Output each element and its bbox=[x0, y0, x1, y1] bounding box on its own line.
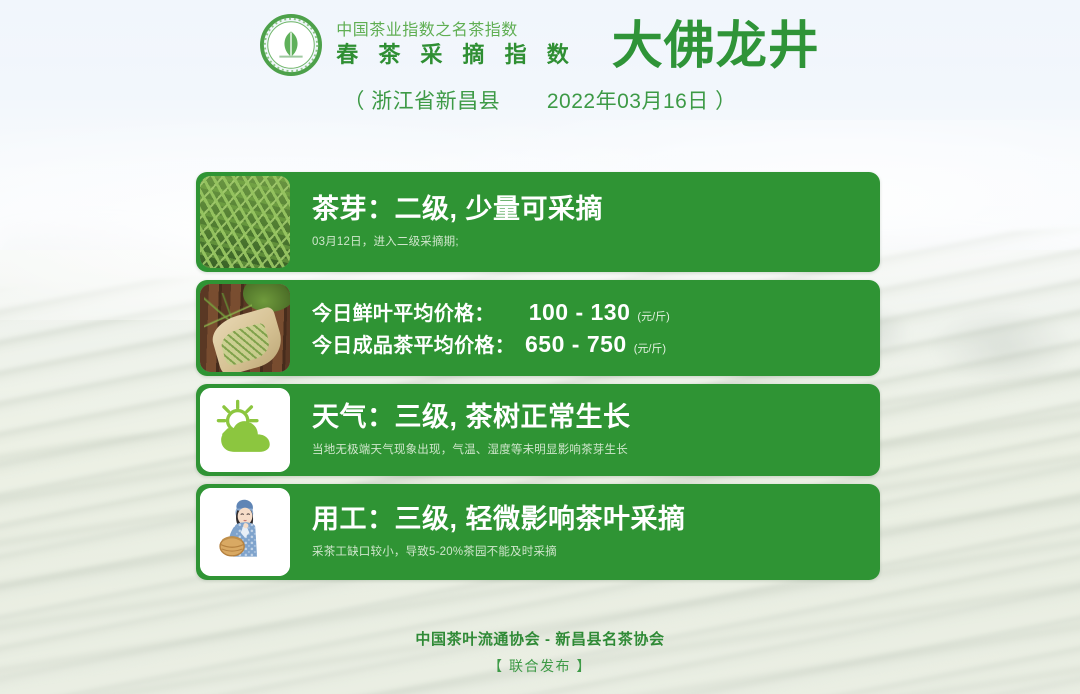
card-labor-subtitle: 采茶工缺口较小，导致5-20%茶园不能及时采摘 bbox=[312, 543, 880, 559]
card-price-body: 今日鲜叶平均价格： 100 - 130 (元/斤) 今日成品茶平均价格： 650… bbox=[294, 280, 880, 376]
page-footer: 中国茶叶流通协会 - 新昌县名茶协会 【 联合发布 】 bbox=[0, 628, 1080, 676]
brand-line1: 中国茶业指数之名茶指数 bbox=[336, 21, 518, 41]
footer-joint-release: 【 联合发布 】 bbox=[488, 656, 592, 676]
card-labor-title: 用工：三级, 轻微影响茶叶采摘 bbox=[312, 503, 880, 537]
price-value-fresh-leaf: 100 - 130 bbox=[529, 299, 631, 326]
brand-block: 中国茶业指数之名茶指数 春 茶 采 摘 指 数 bbox=[336, 21, 576, 69]
header-subtitle: （ 浙江省新昌县 2022年03月16日 ） bbox=[343, 85, 736, 115]
card-labor[interactable]: 用工：三级, 轻微影响茶叶采摘 采茶工缺口较小，导致5-20%茶园不能及时采摘 bbox=[196, 484, 880, 580]
card-weather-title: 天气：三级, 茶树正常生长 bbox=[312, 401, 880, 435]
header-title-row: 中国茶业指数之名茶指数 春 茶 采 摘 指 数 大佛龙井 bbox=[260, 14, 820, 76]
brand-line2: 春 茶 采 摘 指 数 bbox=[336, 41, 576, 69]
price-unit-finished-tea: (元/斤) bbox=[634, 340, 666, 356]
page-header: 中国茶业指数之名茶指数 春 茶 采 摘 指 数 大佛龙井 （ 浙江省新昌县 20… bbox=[0, 0, 1080, 138]
tea-leaf-seal-icon bbox=[260, 14, 322, 76]
labor-thumb bbox=[200, 488, 290, 576]
sun-behind-cloud-icon bbox=[212, 395, 278, 466]
tea-buds-photo bbox=[200, 176, 290, 268]
card-tea-bud-title: 茶芽：二级, 少量可采摘 bbox=[312, 193, 880, 227]
index-card-list: 茶芽：二级, 少量可采摘 03月12日，进入二级采摘期; 今日鲜叶平均价格： 1… bbox=[196, 172, 880, 588]
price-unit-fresh-leaf: (元/斤) bbox=[637, 308, 669, 324]
weather-thumb bbox=[200, 388, 290, 472]
price-row-fresh-leaf: 今日鲜叶平均价格： 100 - 130 (元/斤) bbox=[312, 297, 880, 326]
price-row-finished-tea: 今日成品茶平均价格： 650 - 750 (元/斤) bbox=[312, 329, 880, 358]
card-weather[interactable]: 天气：三级, 茶树正常生长 当地无极端天气现象出现，气温、湿度等未明显影响茶芽生… bbox=[196, 384, 880, 476]
price-label-finished-tea: 今日成品茶平均价格： bbox=[312, 329, 515, 358]
price-label-fresh-leaf: 今日鲜叶平均价格： bbox=[312, 297, 495, 326]
page-title: 大佛龙井 bbox=[612, 20, 820, 71]
card-weather-subtitle: 当地无极端天气现象出现，气温、湿度等未明显影响茶芽生长 bbox=[312, 441, 880, 457]
card-tea-bud-subtitle: 03月12日，进入二级采摘期; bbox=[312, 233, 880, 249]
tea-picker-woman-icon bbox=[214, 493, 276, 572]
card-tea-bud[interactable]: 茶芽：二级, 少量可采摘 03月12日，进入二级采摘期; bbox=[196, 172, 880, 272]
header-date: 2022年03月16日 ） bbox=[547, 90, 737, 113]
price-value-finished-tea: 650 - 750 bbox=[525, 331, 627, 358]
price-list: 今日鲜叶平均价格： 100 - 130 (元/斤) 今日成品茶平均价格： 650… bbox=[312, 297, 880, 358]
footer-organizations: 中国茶叶流通协会 - 新昌县名茶协会 bbox=[415, 628, 664, 649]
header-region: （ 浙江省新昌县 bbox=[343, 90, 500, 113]
fresh-leaf-photo bbox=[200, 284, 290, 372]
card-labor-body: 用工：三级, 轻微影响茶叶采摘 采茶工缺口较小，导致5-20%茶园不能及时采摘 bbox=[294, 484, 880, 580]
card-tea-bud-body: 茶芽：二级, 少量可采摘 03月12日，进入二级采摘期; bbox=[294, 172, 880, 272]
card-price[interactable]: 今日鲜叶平均价格： 100 - 130 (元/斤) 今日成品茶平均价格： 650… bbox=[196, 280, 880, 376]
card-weather-body: 天气：三级, 茶树正常生长 当地无极端天气现象出现，气温、湿度等未明显影响茶芽生… bbox=[294, 384, 880, 476]
